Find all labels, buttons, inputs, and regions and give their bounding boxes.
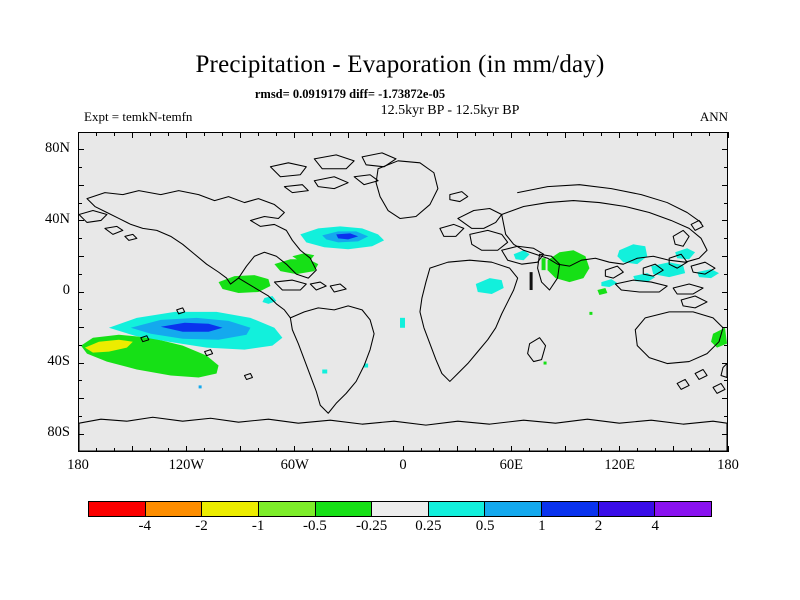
axis-tick [150, 448, 151, 452]
axis-tick [722, 327, 728, 328]
y-axis-label: 0 [24, 283, 70, 298]
axis-tick [529, 132, 530, 136]
axis-tick [547, 132, 548, 136]
axis-tick [691, 132, 692, 136]
colorbar-segment [145, 502, 202, 516]
axis-tick [421, 132, 422, 136]
axis-tick [403, 132, 404, 138]
axis-tick [728, 132, 729, 138]
colorbar-segment [371, 502, 428, 516]
axis-tick [132, 132, 133, 138]
x-axis-label: 120E [590, 458, 650, 473]
axis-tick [312, 448, 313, 452]
axis-tick [722, 220, 728, 221]
axis-tick [722, 434, 728, 435]
colorbar [88, 501, 712, 517]
axis-tick [728, 446, 729, 452]
axis-tick [78, 149, 84, 150]
colorbar-segment [89, 502, 145, 516]
axis-tick [78, 398, 84, 399]
axis-tick [78, 167, 82, 168]
axis-tick [724, 345, 728, 346]
axis-tick [240, 446, 241, 452]
x-axis-label: 60W [265, 458, 325, 473]
axis-tick [673, 446, 674, 452]
axis-tick [601, 132, 602, 136]
axis-tick [78, 292, 84, 293]
x-axis-label: 60E [481, 458, 541, 473]
colorbar-tick-label: -4 [117, 519, 173, 534]
axis-tick [150, 132, 151, 136]
axis-tick [724, 309, 728, 310]
axis-tick [366, 132, 367, 136]
axis-tick [511, 132, 512, 138]
axis-tick [475, 132, 476, 136]
axis-tick [186, 446, 187, 452]
page-title: Precipitation - Evaporation (in mm/day) [0, 52, 800, 77]
axis-tick [583, 132, 584, 136]
axis-tick [330, 132, 331, 136]
axis-tick [294, 132, 295, 138]
colorbar-tick-label: 4 [627, 519, 683, 534]
colorbar-tick-label: 0.25 [400, 519, 456, 534]
colorbar-tick-label: -0.25 [344, 519, 400, 534]
axis-tick [439, 132, 440, 136]
axis-tick [724, 416, 728, 417]
axis-tick [722, 256, 728, 257]
colorbar-segment [315, 502, 372, 516]
axis-tick [655, 132, 656, 136]
axis-tick [421, 448, 422, 452]
axis-tick [258, 132, 259, 136]
statistics-subtitle: rmsd= 0.0919179 diff= -1.73872e-05 [140, 88, 560, 101]
axis-tick [475, 448, 476, 452]
y-axis-label: 40N [24, 212, 70, 227]
axis-tick [601, 448, 602, 452]
map-plot-area [78, 132, 728, 452]
axis-tick [204, 132, 205, 136]
axis-tick [222, 132, 223, 136]
axis-tick [78, 416, 82, 417]
axis-tick [655, 448, 656, 452]
axis-tick [204, 448, 205, 452]
axis-tick [276, 132, 277, 136]
axis-tick [96, 448, 97, 452]
axis-tick [722, 149, 728, 150]
axis-tick [403, 446, 404, 452]
world-map [79, 133, 727, 451]
colorbar-segment [541, 502, 598, 516]
axis-tick [78, 132, 79, 138]
axis-tick [511, 446, 512, 452]
axis-tick [78, 363, 84, 364]
axis-tick [691, 448, 692, 452]
axis-tick [709, 132, 710, 136]
figure-canvas: Precipitation - Evaporation (in mm/day) … [0, 0, 800, 600]
axis-tick [619, 132, 620, 138]
x-axis-label: 0 [373, 458, 433, 473]
axis-tick [222, 448, 223, 452]
colorbar-segment [201, 502, 258, 516]
axis-tick [493, 448, 494, 452]
axis-tick [724, 167, 728, 168]
axis-tick [724, 238, 728, 239]
axis-tick [722, 398, 728, 399]
axis-tick [722, 185, 728, 186]
axis-tick [724, 203, 728, 204]
axis-tick [96, 132, 97, 136]
colorbar-tick-label: -1 [230, 519, 286, 534]
axis-tick [547, 448, 548, 452]
axis-tick [457, 446, 458, 452]
colorbar-tick-label: 0.5 [457, 519, 513, 534]
axis-tick [565, 446, 566, 452]
axis-tick [330, 448, 331, 452]
axis-tick [722, 363, 728, 364]
colorbar-segment [258, 502, 315, 516]
axis-tick [78, 185, 84, 186]
colorbar-segment [428, 502, 485, 516]
axis-tick [78, 274, 82, 275]
period-label: 12.5kyr BP - 12.5kyr BP [240, 104, 660, 118]
axis-tick [78, 345, 82, 346]
y-axis-label: 80N [24, 141, 70, 156]
axis-tick [114, 448, 115, 452]
axis-tick [78, 203, 82, 204]
axis-tick [78, 238, 82, 239]
axis-tick [384, 132, 385, 136]
axis-tick [78, 220, 84, 221]
coastlines [79, 153, 727, 451]
axis-tick [78, 380, 82, 381]
axis-tick [78, 327, 84, 328]
axis-tick [565, 132, 566, 138]
axis-tick [312, 132, 313, 136]
x-axis-label: 180 [698, 458, 758, 473]
contour-fills [81, 226, 727, 432]
axis-tick [294, 446, 295, 452]
axis-tick [439, 448, 440, 452]
experiment-label: Expt = temkN-temfn [84, 110, 192, 123]
axis-tick [724, 274, 728, 275]
axis-tick [258, 448, 259, 452]
axis-tick [384, 448, 385, 452]
axis-tick [168, 448, 169, 452]
axis-tick [168, 132, 169, 136]
y-axis-label: 80S [24, 425, 70, 440]
axis-tick [493, 132, 494, 136]
axis-tick [529, 448, 530, 452]
y-axis-label: 40S [24, 354, 70, 369]
colorbar-tick-label: 2 [571, 519, 627, 534]
axis-tick [583, 448, 584, 452]
x-axis-label: 180 [48, 458, 108, 473]
colorbar-tick-label: -2 [173, 519, 229, 534]
axis-tick [186, 132, 187, 138]
axis-tick [619, 446, 620, 452]
axis-tick [348, 132, 349, 138]
axis-tick [114, 132, 115, 136]
axis-tick [78, 309, 82, 310]
colorbar-tick-label: -0.5 [287, 519, 343, 534]
axis-tick [78, 446, 79, 452]
colorbar-segment [654, 502, 711, 516]
colorbar-segment [484, 502, 541, 516]
axis-tick [240, 132, 241, 138]
axis-tick [457, 132, 458, 138]
axis-tick [366, 448, 367, 452]
axis-tick [78, 256, 84, 257]
axis-tick [724, 380, 728, 381]
axis-tick [637, 132, 638, 136]
axis-tick [78, 434, 84, 435]
axis-tick [348, 446, 349, 452]
season-label: ANN [700, 110, 728, 123]
axis-tick [673, 132, 674, 138]
axis-tick [722, 292, 728, 293]
axis-tick [132, 446, 133, 452]
colorbar-tick-label: 1 [514, 519, 570, 534]
x-axis-label: 120W [156, 458, 216, 473]
axis-tick [276, 448, 277, 452]
axis-tick [637, 448, 638, 452]
axis-tick [709, 448, 710, 452]
colorbar-segment [598, 502, 655, 516]
